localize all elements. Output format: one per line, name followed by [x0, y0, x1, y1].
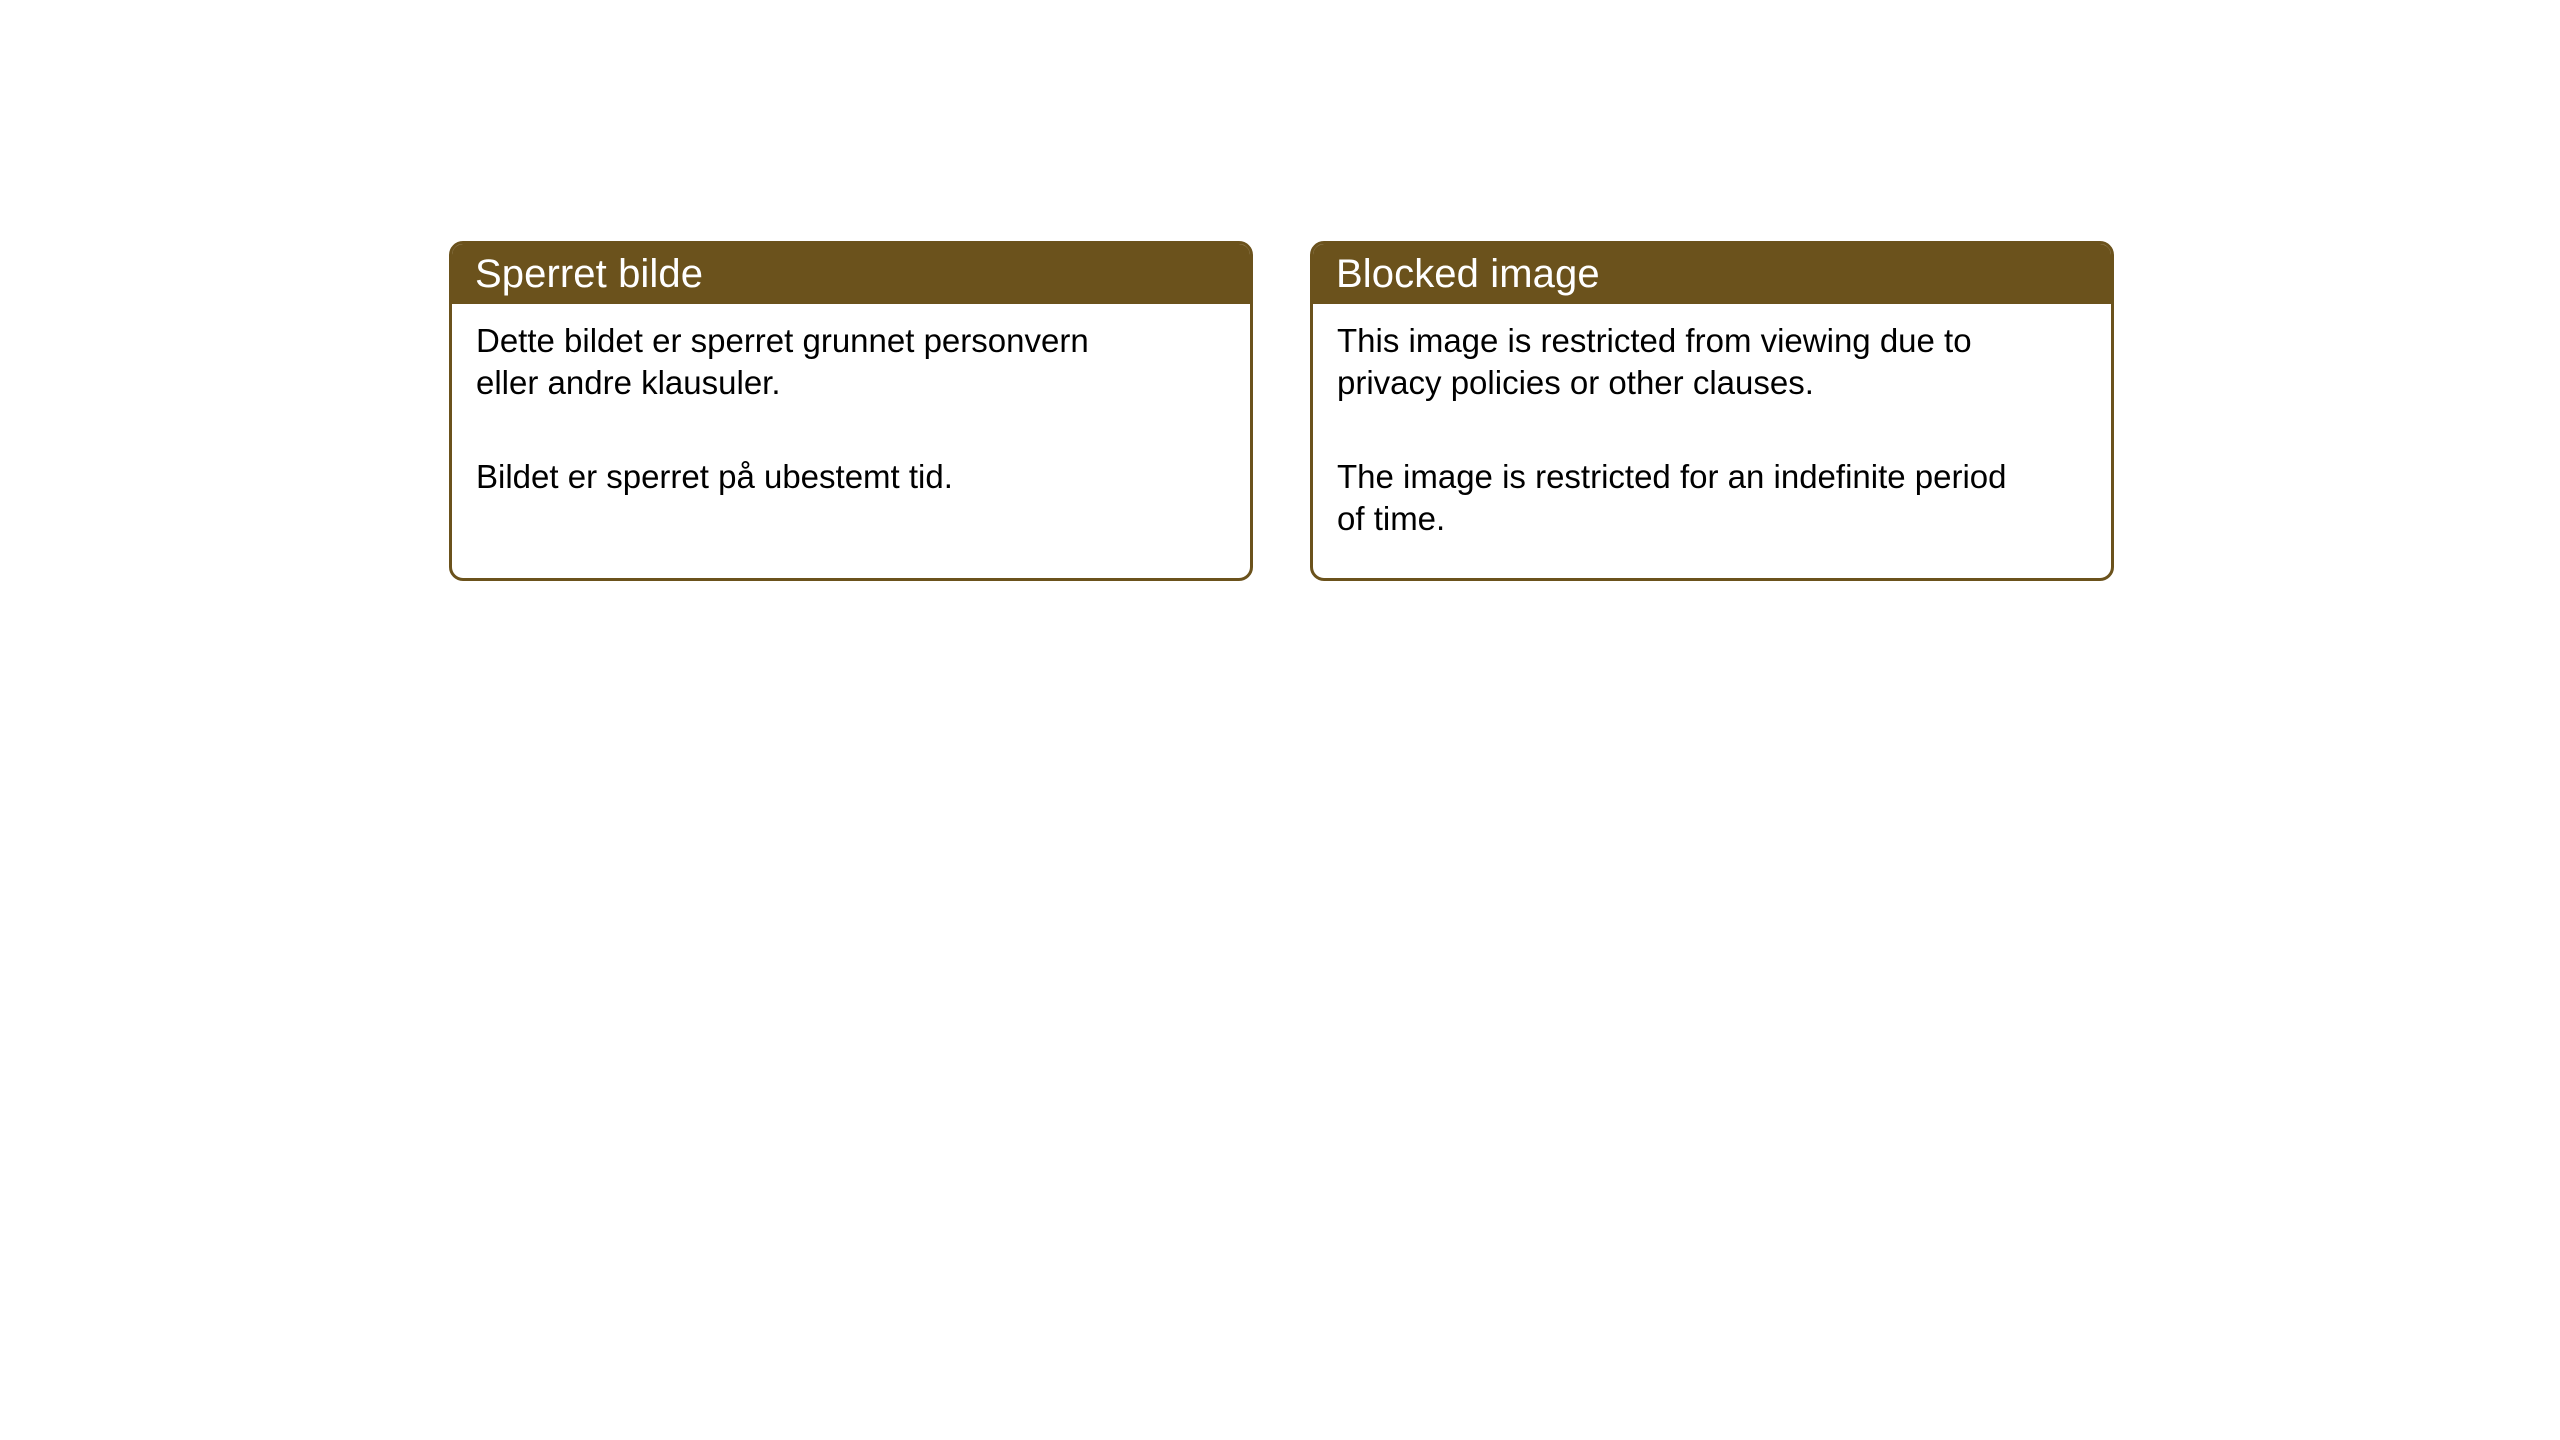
panel-body-english: This image is restricted from viewing du…	[1313, 304, 2111, 539]
panel-paragraph-reason-norwegian: Dette bildet er sperret grunnet personve…	[476, 320, 1228, 403]
panel-header-norwegian: Sperret bilde	[452, 244, 1250, 304]
panel-title-english: Blocked image	[1336, 254, 1600, 294]
blocked-image-notice-norwegian: Sperret bilde Dette bildet er sperret gr…	[449, 241, 1253, 581]
panel-body-norwegian: Dette bildet er sperret grunnet personve…	[452, 304, 1250, 498]
panel-header-english: Blocked image	[1313, 244, 2111, 304]
page-root: Sperret bilde Dette bildet er sperret gr…	[0, 0, 2560, 1440]
panel-title-norwegian: Sperret bilde	[475, 254, 703, 294]
panel-paragraph-duration-english: The image is restricted for an indefinit…	[1337, 456, 2089, 539]
panel-paragraph-reason-english: This image is restricted from viewing du…	[1337, 320, 2089, 403]
blocked-image-notice-english: Blocked image This image is restricted f…	[1310, 241, 2114, 581]
panel-paragraph-duration-norwegian: Bildet er sperret på ubestemt tid.	[476, 456, 1228, 498]
